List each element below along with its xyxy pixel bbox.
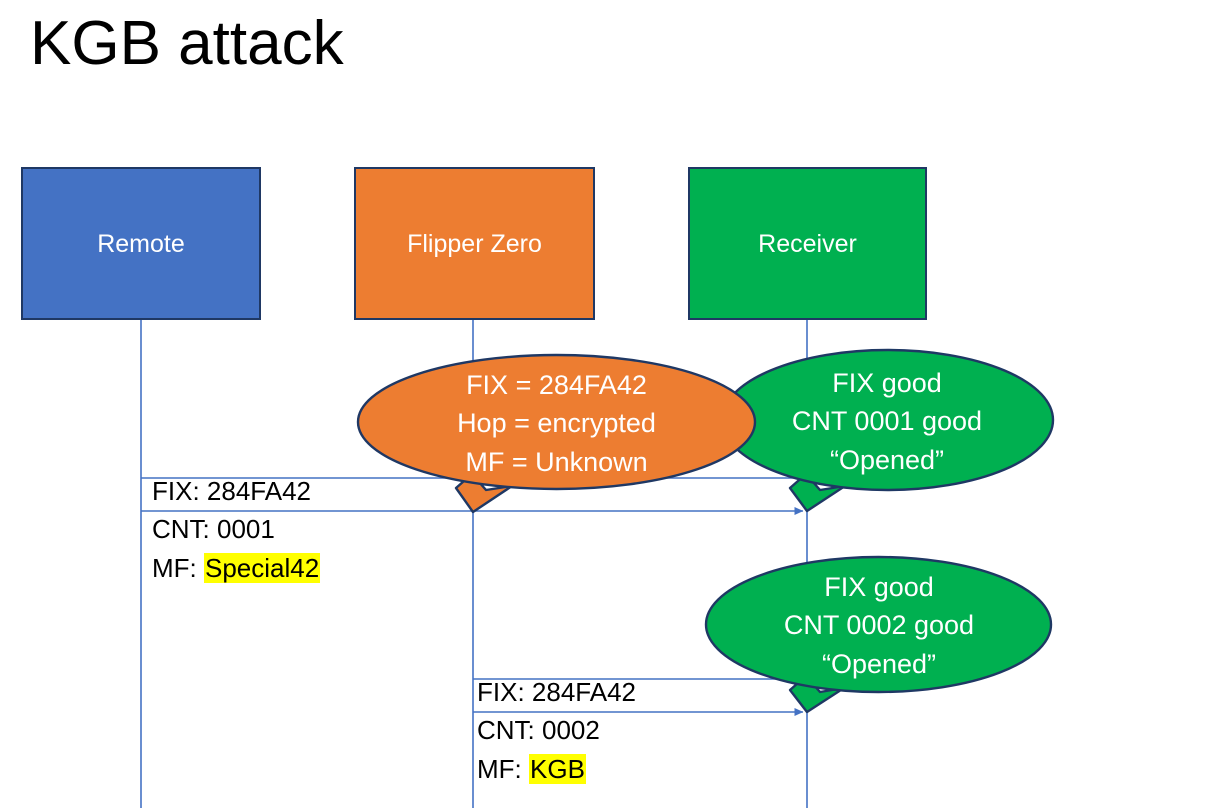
- mf-value-highlight: Special42: [204, 553, 320, 583]
- message-line-cnt: CNT: 0002: [477, 711, 636, 749]
- actor-box-receiver[interactable]: Receiver: [688, 167, 927, 320]
- message-2-label: FIX: 284FA42 CNT: 0002 MF: KGB: [477, 673, 636, 788]
- message-line-fix: FIX: 284FA42: [152, 472, 320, 510]
- callout-receiver-ok-2-shape: [706, 557, 1051, 712]
- slide-canvas: KGB attack Remote Flipper Zero Receiver …: [0, 0, 1218, 808]
- actor-label-receiver: Receiver: [758, 229, 857, 259]
- callout-receiver-ok-1-shape: [722, 350, 1053, 511]
- message-line-mf: MF: KGB: [477, 750, 636, 788]
- mf-prefix: MF:: [477, 754, 529, 784]
- message-1-label: FIX: 284FA42 CNT: 0001 MF: Special42: [152, 472, 320, 587]
- message-line-fix: FIX: 284FA42: [477, 673, 636, 711]
- message-line-cnt: CNT: 0001: [152, 510, 320, 548]
- callout-flipper-capture-shape: [358, 355, 755, 512]
- actor-box-remote[interactable]: Remote: [21, 167, 261, 320]
- actor-label-remote: Remote: [97, 229, 185, 259]
- mf-prefix: MF:: [152, 553, 204, 583]
- mf-value-highlight: KGB: [529, 754, 586, 784]
- message-line-mf: MF: Special42: [152, 549, 320, 587]
- actor-box-flipper[interactable]: Flipper Zero: [354, 167, 595, 320]
- page-title: KGB attack: [30, 8, 344, 79]
- actor-label-flipper: Flipper Zero: [407, 229, 542, 259]
